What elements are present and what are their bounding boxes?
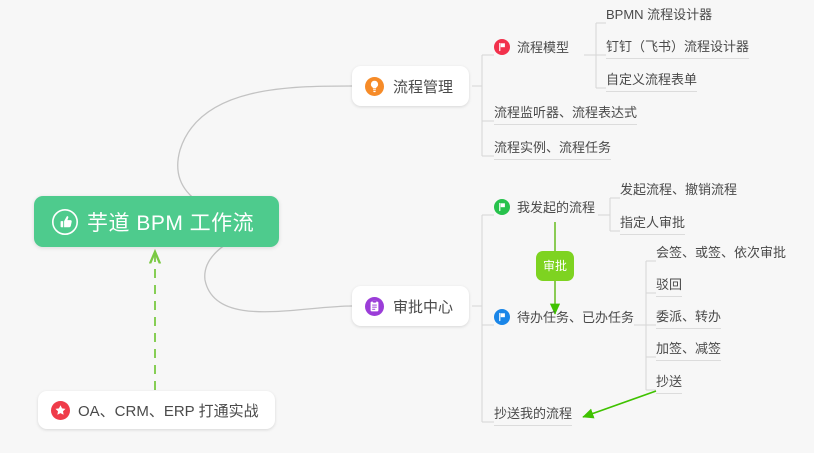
leaf-cc[interactable]: 抄送 xyxy=(656,374,682,394)
star-icon xyxy=(51,401,70,420)
branch-node-flow-management[interactable]: 流程管理 xyxy=(352,66,469,106)
annotation-tag-approval-label: 审批 xyxy=(543,260,567,272)
leaf-todo-done-tasks[interactable]: 待办任务、已办任务 xyxy=(494,309,634,329)
leaf-add-remove-sign[interactable]: 加签、减签 xyxy=(656,341,721,361)
branch-node-approval-center[interactable]: 审批中心 xyxy=(352,286,469,326)
floating-note-label: OA、CRM、ERP 打通实战 xyxy=(78,400,259,421)
leaf-label-flow-listener: 流程监听器、流程表达式 xyxy=(494,105,637,121)
leaf-label-custom-form: 自定义流程表单 xyxy=(606,72,697,88)
floating-note-oa-crm-erp[interactable]: OA、CRM、ERP 打通实战 xyxy=(38,391,275,429)
branch-label-flow-management: 流程管理 xyxy=(393,76,453,97)
leaf-label-todo-done-tasks: 待办任务、已办任务 xyxy=(517,310,634,326)
leaf-flow-listener[interactable]: 流程监听器、流程表达式 xyxy=(494,105,637,125)
leaf-label-start-cancel-process: 发起流程、撤销流程 xyxy=(620,182,737,198)
leaf-delegate-transfer[interactable]: 委派、转办 xyxy=(656,309,721,329)
leaf-label-flow-model: 流程模型 xyxy=(517,40,569,56)
mindmap-canvas: 芋道 BPM 工作流 流程管理 审批中心 xyxy=(0,0,814,453)
leaf-label-countersign: 会签、或签、依次审批 xyxy=(656,245,786,261)
leaf-countersign[interactable]: 会签、或签、依次审批 xyxy=(656,245,786,264)
flag-icon xyxy=(494,199,510,215)
leaf-flow-model[interactable]: 流程模型 xyxy=(494,39,569,59)
flag-icon xyxy=(494,309,510,325)
leaf-label-add-remove-sign: 加签、减签 xyxy=(656,341,721,357)
leaf-start-cancel-process[interactable]: 发起流程、撤销流程 xyxy=(620,182,737,201)
leaf-label-cc: 抄送 xyxy=(656,374,682,390)
leaf-label-cc-my-processes: 抄送我的流程 xyxy=(494,406,572,422)
leaf-label-my-started-processes: 我发起的流程 xyxy=(517,200,595,216)
lightbulb-icon xyxy=(365,77,384,96)
wire-cc-annotation-arrow xyxy=(583,391,656,417)
annotation-tag-approval[interactable]: 审批 xyxy=(536,251,574,281)
thumbs-up-icon xyxy=(52,209,78,235)
root-node[interactable]: 芋道 BPM 工作流 xyxy=(34,196,279,247)
leaf-assignee-approve[interactable]: 指定人审批 xyxy=(620,215,685,235)
root-node-label: 芋道 BPM 工作流 xyxy=(87,207,254,237)
leaf-reject[interactable]: 驳回 xyxy=(656,277,682,297)
branch-label-approval-center: 审批中心 xyxy=(393,296,453,317)
leaf-label-assignee-approve: 指定人审批 xyxy=(620,215,685,231)
leaf-custom-form[interactable]: 自定义流程表单 xyxy=(606,72,697,92)
leaf-cc-my-processes[interactable]: 抄送我的流程 xyxy=(494,406,572,426)
leaf-label-delegate-transfer: 委派、转办 xyxy=(656,309,721,325)
flag-icon xyxy=(494,39,510,55)
leaf-flow-instance[interactable]: 流程实例、流程任务 xyxy=(494,140,611,160)
leaf-my-started-processes[interactable]: 我发起的流程 xyxy=(494,199,595,219)
clipboard-icon xyxy=(365,297,384,316)
leaf-label-dingtalk-designer: 钉钉（飞书）流程设计器 xyxy=(606,39,749,55)
leaf-bpmn-designer[interactable]: BPMN 流程设计器 xyxy=(606,7,712,26)
leaf-label-bpmn-designer: BPMN 流程设计器 xyxy=(606,7,712,23)
leaf-dingtalk-designer[interactable]: 钉钉（飞书）流程设计器 xyxy=(606,39,749,59)
leaf-label-reject: 驳回 xyxy=(656,277,682,293)
leaf-label-flow-instance: 流程实例、流程任务 xyxy=(494,140,611,156)
